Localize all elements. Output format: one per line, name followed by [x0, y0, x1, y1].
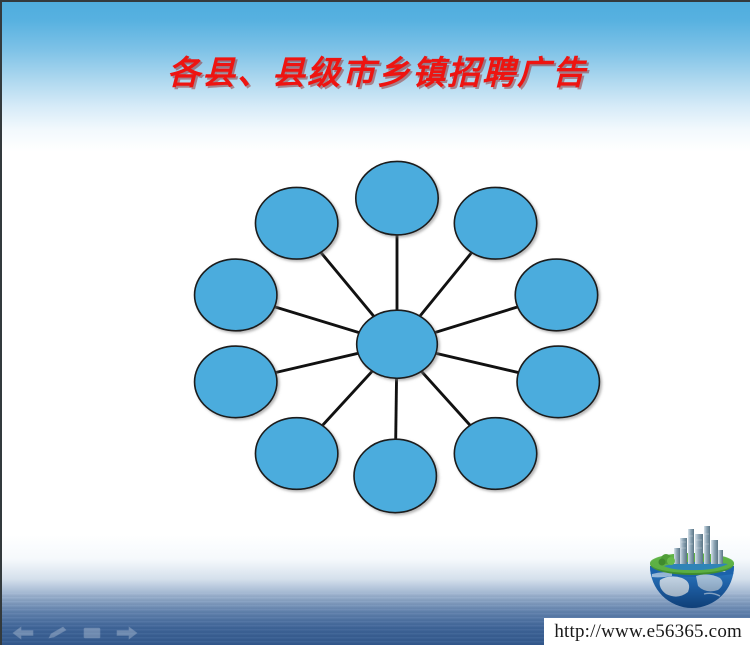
earth-city-globe-icon: [642, 518, 742, 613]
radial-diagram: [182, 130, 612, 545]
diagram-node[interactable]: [195, 259, 277, 331]
diagram-node[interactable]: [454, 187, 536, 259]
previous-slide-arrow-icon[interactable]: [12, 626, 34, 640]
slide-menu-square-icon[interactable]: [82, 626, 102, 640]
diagram-node[interactable]: [195, 346, 277, 418]
watermark-url-bar: http://www.e56365.com: [544, 618, 750, 645]
diagram-node[interactable]: [356, 161, 438, 234]
diagram-node[interactable]: [515, 259, 597, 331]
page-title: 各县、县级市乡镇招聘广告: [2, 46, 750, 94]
presentation-slide: 各县、县级市乡镇招聘广告: [0, 0, 750, 645]
diagram-node[interactable]: [255, 418, 337, 490]
diagram-node[interactable]: [454, 418, 536, 490]
next-slide-arrow-icon[interactable]: [116, 626, 138, 640]
slideshow-navigation-controls[interactable]: [12, 626, 138, 640]
diagram-node[interactable]: [354, 439, 436, 512]
diagram-hub-node[interactable]: [357, 310, 438, 378]
pen-tool-icon[interactable]: [48, 626, 68, 640]
diagram-node[interactable]: [517, 346, 599, 418]
diagram-node[interactable]: [255, 187, 337, 259]
watermark-url-text: http://www.e56365.com: [554, 621, 742, 643]
